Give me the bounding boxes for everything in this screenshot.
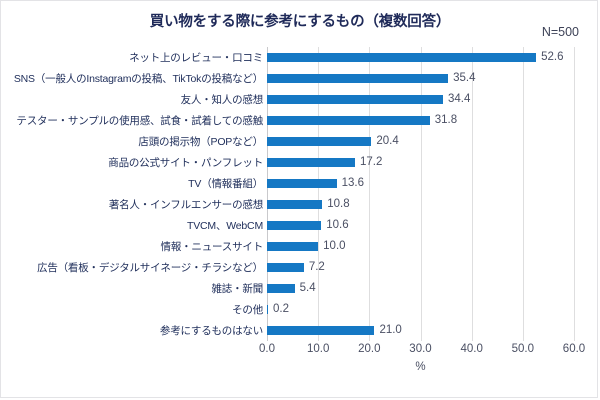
chart-container: 買い物をする際に参考にするもの（複数回答） N=500 ネット上のレビュー・口コ… — [0, 0, 598, 398]
bar-value-label: 10.0 — [323, 241, 345, 253]
category-label: TV（情報番組） — [188, 173, 263, 194]
bar[interactable] — [267, 221, 321, 230]
category-label: 友人・知人の感想 — [181, 89, 263, 110]
category-label: TVCM、WebCM — [187, 215, 263, 236]
bar[interactable] — [267, 326, 374, 335]
bar[interactable] — [267, 305, 268, 314]
bar-value-label: 17.2 — [360, 157, 382, 169]
category-label: 著名人・インフルエンサーの感想 — [109, 194, 263, 215]
bar-value-label: 20.4 — [376, 136, 398, 148]
category-label: 雑誌・新聞 — [212, 278, 264, 299]
category-label: 広告（看板・デジタルサイネージ・チラシなど） — [37, 257, 263, 278]
bar-value-label: 7.2 — [309, 262, 325, 274]
bar-row[interactable]: 34.4 — [267, 89, 600, 110]
bar[interactable] — [267, 242, 318, 251]
category-label: 情報・ニュースサイト — [161, 236, 263, 257]
x-tick-label: 0.0 — [259, 343, 275, 355]
bar-series: 52.635.434.431.820.417.213.610.810.610.0… — [267, 47, 574, 341]
bar[interactable] — [267, 95, 443, 104]
bar-row[interactable]: 10.0 — [267, 236, 600, 257]
bar-row[interactable]: 20.4 — [267, 131, 600, 152]
bar[interactable] — [267, 116, 430, 125]
category-label: 商品の公式サイト・パンフレット — [108, 152, 263, 173]
bar-row[interactable]: 52.6 — [267, 47, 600, 68]
category-label: SNS（一般人のInstagramの投稿、TikTokの投稿など） — [14, 68, 263, 89]
page-title: 買い物をする際に参考にするもの（複数回答） — [1, 10, 599, 31]
x-tick-label: 40.0 — [460, 343, 482, 355]
bar-row[interactable]: 13.6 — [267, 173, 600, 194]
x-tick-label: 20.0 — [358, 343, 380, 355]
x-tick-label: 10.0 — [307, 343, 329, 355]
x-tick-label: 30.0 — [409, 343, 431, 355]
bar-row[interactable]: 35.4 — [267, 68, 600, 89]
bar-value-label: 5.4 — [300, 283, 316, 295]
bar-value-label: 34.4 — [448, 94, 470, 106]
plot-area: 52.635.434.431.820.417.213.610.810.610.0… — [267, 47, 574, 341]
bar-value-label: 52.6 — [541, 52, 563, 64]
bar-row[interactable]: 7.2 — [267, 257, 600, 278]
bar[interactable] — [267, 137, 371, 146]
bar-value-label: 10.6 — [326, 220, 348, 232]
bar-row[interactable]: 21.0 — [267, 320, 600, 341]
bar[interactable] — [267, 53, 536, 62]
bar[interactable] — [267, 74, 448, 83]
category-label: 店頭の掲示物（POPなど） — [138, 131, 263, 152]
x-axis-ticks: 0.010.020.030.040.050.060.0 — [267, 343, 574, 359]
category-label: 参考にするものはない — [160, 320, 263, 341]
bar[interactable] — [267, 263, 304, 272]
bar[interactable] — [267, 200, 322, 209]
x-tick-label: 60.0 — [563, 343, 585, 355]
bar-value-label: 13.6 — [342, 178, 364, 190]
bar-row[interactable]: 5.4 — [267, 278, 600, 299]
bar-value-label: 31.8 — [435, 115, 457, 127]
bar[interactable] — [267, 158, 355, 167]
x-axis-title: % — [267, 361, 574, 373]
sample-size-label: N=500 — [542, 25, 579, 39]
bar-value-label: 10.8 — [327, 199, 349, 211]
bar-row[interactable]: 0.2 — [267, 299, 600, 320]
bar-row[interactable]: 10.8 — [267, 194, 600, 215]
bar-row[interactable]: 10.6 — [267, 215, 600, 236]
bar-row[interactable]: 31.8 — [267, 110, 600, 131]
category-axis: ネット上のレビュー・口コミSNS（一般人のInstagramの投稿、TikTok… — [1, 47, 263, 341]
bar[interactable] — [267, 284, 295, 293]
bar-row[interactable]: 17.2 — [267, 152, 600, 173]
bar-value-label: 21.0 — [379, 325, 401, 337]
bar[interactable] — [267, 179, 337, 188]
category-label: テスター・サンプルの使用感、試食・試着しての感触 — [16, 110, 263, 131]
x-tick-label: 50.0 — [512, 343, 534, 355]
bar-value-label: 35.4 — [453, 73, 475, 85]
category-label: ネット上のレビュー・口コミ — [129, 47, 263, 68]
bar-value-label: 0.2 — [273, 304, 289, 316]
category-label: その他 — [232, 299, 263, 320]
